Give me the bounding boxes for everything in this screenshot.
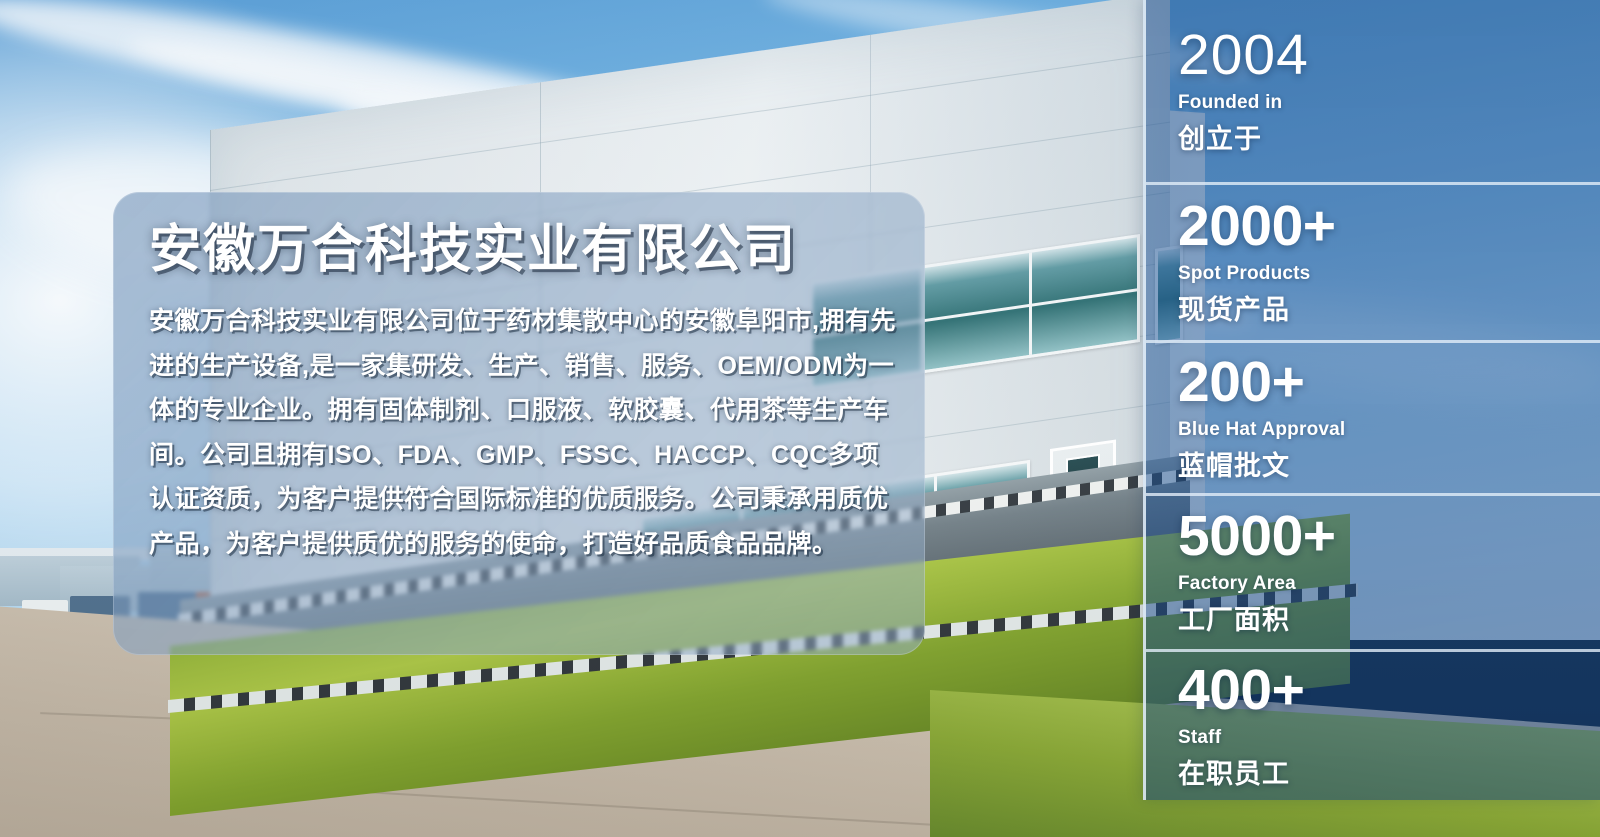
stat-label-en: Blue Hat Approval bbox=[1178, 419, 1600, 441]
stat-item-staff: 400+Staff在职员工 bbox=[1146, 649, 1600, 800]
stat-value: 2000+ bbox=[1178, 198, 1600, 255]
stat-item-blue-hat-approval: 200+Blue Hat Approval蓝帽批文 bbox=[1146, 340, 1600, 493]
stat-label-cn: 创立于 bbox=[1178, 117, 1600, 156]
stat-label-cn: 蓝帽批文 bbox=[1178, 444, 1600, 483]
stat-item-factory-area: 5000+Factory Area工厂面积 bbox=[1146, 493, 1600, 649]
stat-value: 400+ bbox=[1178, 662, 1600, 719]
stat-label-cn: 现货产品 bbox=[1178, 288, 1600, 327]
stat-value: 2004 bbox=[1178, 27, 1600, 84]
stat-label-en: Staff bbox=[1178, 727, 1600, 749]
stat-label-cn: 在职员工 bbox=[1178, 752, 1600, 791]
stat-label-cn: 工厂面积 bbox=[1178, 598, 1600, 637]
stat-label-en: Spot Products bbox=[1178, 263, 1600, 285]
stat-value: 200+ bbox=[1178, 354, 1600, 411]
stats-panel: 2004Founded in创立于2000+Spot Products现货产品2… bbox=[1143, 0, 1600, 800]
stat-item-founded-in: 2004Founded in创立于 bbox=[1146, 0, 1600, 182]
company-title: 安徽万合科技实业有限公司 bbox=[149, 222, 899, 279]
stat-label-en: Founded in bbox=[1178, 92, 1600, 114]
company-info-panel: 安徽万合科技实业有限公司 安徽万合科技实业有限公司位于药材集散中心的安徽阜阳市,… bbox=[113, 192, 925, 655]
stat-item-spot-products: 2000+Spot Products现货产品 bbox=[1146, 182, 1600, 340]
hero-banner: 安徽万合科技实业有限公司 安徽万合科技实业有限公司位于药材集散中心的安徽阜阳市,… bbox=[0, 0, 1600, 837]
stat-value: 5000+ bbox=[1178, 508, 1600, 565]
stat-label-en: Factory Area bbox=[1178, 573, 1600, 595]
company-description: 安徽万合科技实业有限公司位于药材集散中心的安徽阜阳市,拥有先进的生产设备,是一家… bbox=[149, 299, 899, 566]
